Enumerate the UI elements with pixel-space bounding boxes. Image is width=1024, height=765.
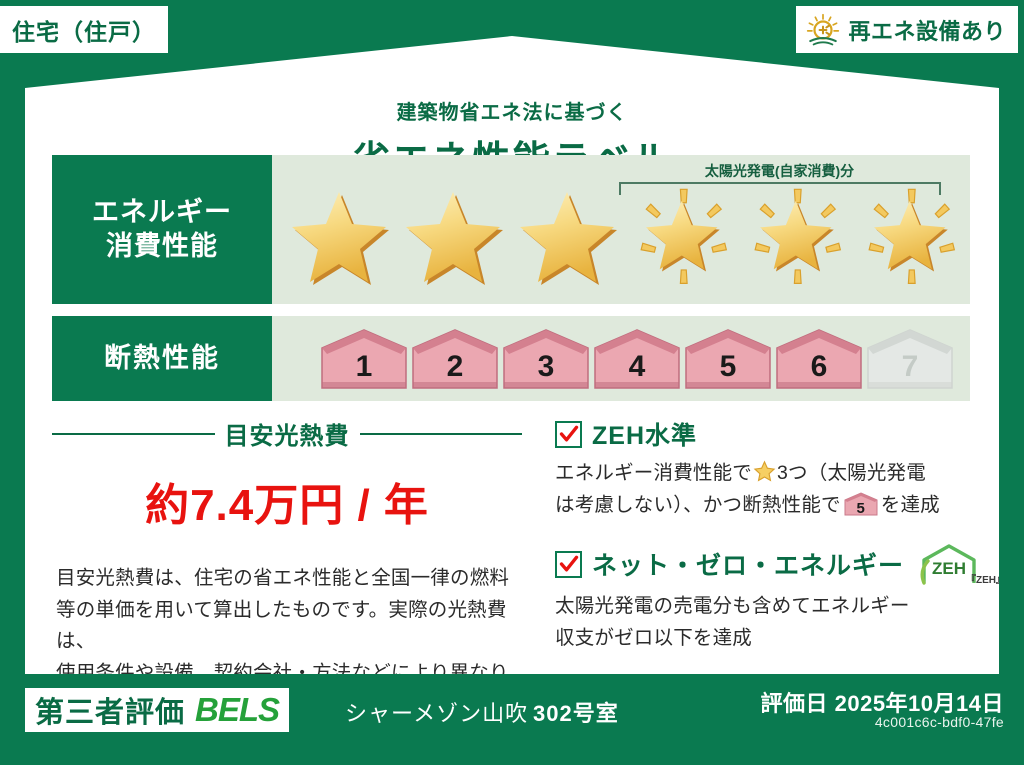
solar-sun-icon [806,13,840,47]
renewable-equipment-label: 再エネ設備あり [848,14,1006,46]
inline-grade-badge: 5 [844,492,878,516]
claim-zeh-standard-title: ZEH水準 [592,416,697,452]
label-card: 建築物省エネ法に基づく 省エネ性能ラベル エネルギー 消費性能 太陽光発電(自家… [25,36,999,674]
footer-bar: 第三者評価 BELS シャーメゾン山吹 302号室 評価日 2025年10月14… [0,674,1024,765]
energy-performance-row: エネルギー 消費性能 太陽光発電(自家消費)分 [52,155,970,304]
energy-cost-heading: 目安光熱費 [52,416,522,451]
building-name: シャーメゾン山吹 [345,696,528,728]
insulation-performance-label: 断熱性能 [52,316,272,401]
insulation-grade-scale: 1 2 3 4 5 6 7 [272,328,954,390]
zeh-logo-caption: 『ZEH』 [966,571,1006,586]
star-rating [272,185,966,289]
star-icon-solar [744,185,852,289]
star-icon [288,185,396,289]
energy-performance-label: エネルギー 消費性能 [52,155,272,304]
title-subtitle: 建築物省エネ法に基づく [25,96,999,125]
room-number: 302号室 [533,696,619,728]
energy-cost-heading-label: 目安光熱費 [225,416,350,451]
insulation-grade-badge: 6 [775,328,863,390]
insulation-performance-body: 1 2 3 4 5 6 7 [272,316,970,401]
inline-star-icon [753,460,776,482]
star-icon [516,185,624,289]
renewable-equipment-badge: 再エネ設備あり [796,6,1018,53]
energy-cost-value: 約7.4万円 / 年 [52,469,522,533]
bels-prefix-label: 第三者評価 [35,689,185,731]
evaluation-id: 4c001c6c-bdf0-47fe [875,714,1004,730]
star-icon-solar [630,185,738,289]
rule-right [360,433,523,435]
claim-zeh-standard: ZEH水準 エネルギー消費性能で 3つ（太陽光発電 は考慮しない）、かつ断熱性能… [555,416,975,521]
star-icon-solar [858,185,966,289]
claims-block: ZEH水準 エネルギー消費性能で 3つ（太陽光発電 は考慮しない）、かつ断熱性能… [555,416,975,662]
energy-performance-body: 太陽光発電(自家消費)分 [272,155,970,304]
solar-annotation-text: 太陽光発電(自家消費)分 [617,161,942,181]
zeh-logo-icon: ZEH 『ZEH』 [918,543,980,585]
insulation-grade-badge: 1 [320,328,408,390]
svg-text:ZEH: ZEH [932,559,966,578]
star-icon [402,185,510,289]
rule-left [52,433,215,435]
insulation-performance-row: 断熱性能 1 2 3 4 5 6 [52,316,970,401]
claim-zeh-standard-body: エネルギー消費性能で 3つ（太陽光発電 は考慮しない）、かつ断熱性能で 5 を達… [555,458,975,521]
check-icon-zeh-standard [555,421,582,448]
insulation-grade-badge: 5 [684,328,772,390]
insulation-grade-badge: 4 [593,328,681,390]
insulation-grade-badge: 7 [866,328,954,390]
insulation-grade-badge: 3 [502,328,590,390]
dwelling-type-label: 住宅（住戸） [12,13,156,47]
claim-net-zero-body: 太陽光発電の売電分も含めてエネルギー 収支がゼロ以下を達成 [555,591,975,654]
check-icon-net-zero [555,551,582,578]
claim-net-zero-energy: ネット・ゼロ・エネルギー ZEH 『ZEH』 太陽光発電の売電分も含めてエネルギ… [555,543,975,654]
claim-net-zero-title: ネット・ゼロ・エネルギー [592,546,904,582]
insulation-grade-badge: 2 [411,328,499,390]
dwelling-type-badge: 住宅（住戸） [0,6,168,53]
label-canvas: 住宅（住戸） 再エネ設備あり 建築物省エネ法に基づく 省エネ性能ラベル [0,0,1024,765]
bels-badge: 第三者評価 BELS [25,688,289,732]
bels-mark-label: BELS [195,691,279,729]
